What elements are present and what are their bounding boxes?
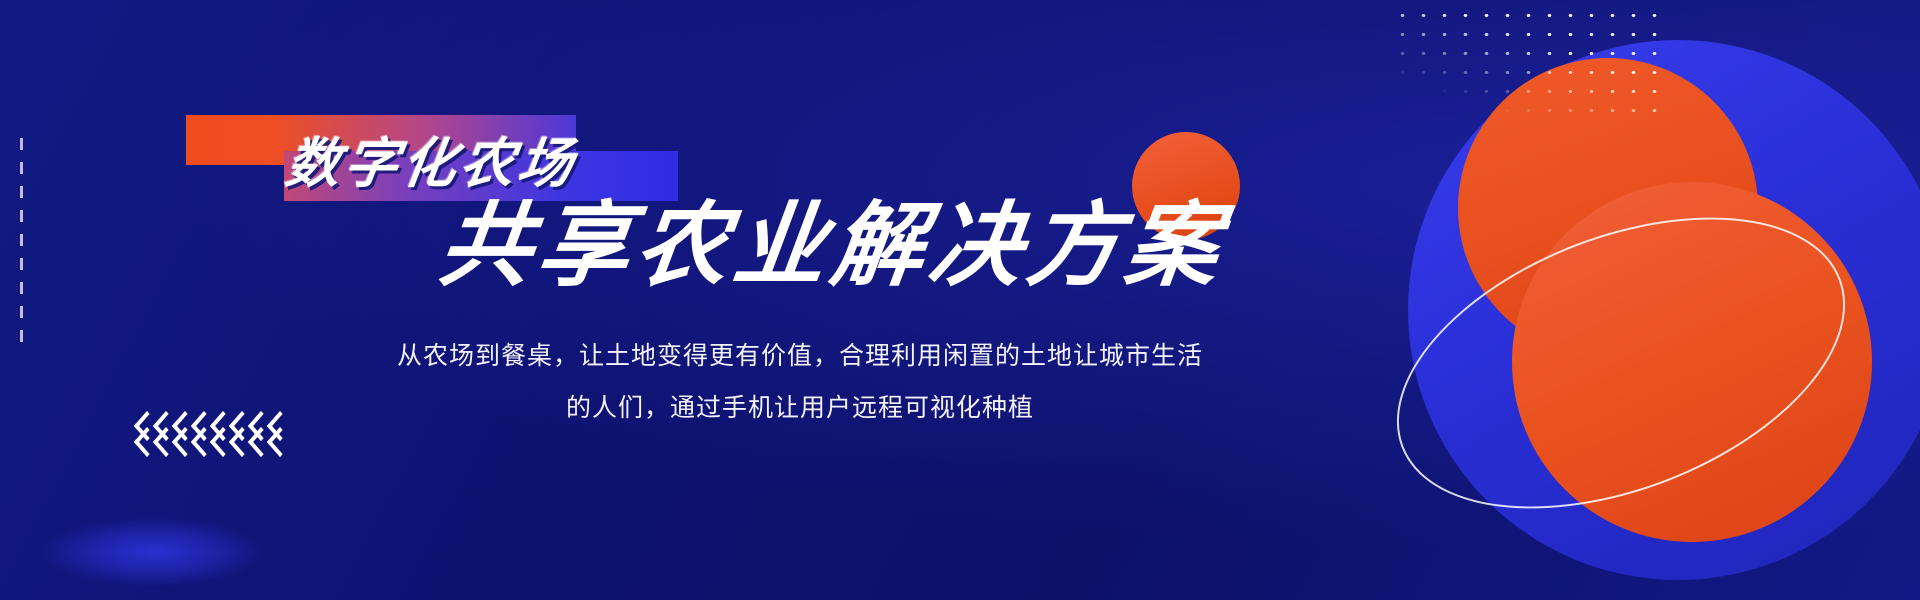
chevron-left-icon bbox=[171, 412, 188, 452]
hero-banner: 数字化农场 共享农业解决方案 从农场到餐桌，让土地变得更有价值，合理利用闲置的土… bbox=[0, 0, 1920, 600]
badge: 数字化农场 bbox=[186, 115, 586, 201]
badge-label: 数字化农场 bbox=[180, 115, 684, 201]
chevron-left-icon bbox=[266, 412, 283, 452]
chevron-left-icon bbox=[209, 412, 226, 452]
chevron-left-icon bbox=[133, 412, 150, 452]
subtitle-line-1: 从农场到餐桌，让土地变得更有价值，合理利用闲置的土地让城市生活 bbox=[300, 330, 1300, 382]
chevron-left-icon bbox=[228, 412, 245, 452]
dotted-vertical-line-decoration bbox=[20, 138, 23, 350]
chevron-arrows-decoration bbox=[133, 412, 283, 452]
page-title: 共享农业解决方案 bbox=[434, 198, 1230, 295]
subtitle: 从农场到餐桌，让土地变得更有价值，合理利用闲置的土地让城市生活 的人们，通过手机… bbox=[300, 330, 1300, 434]
chevron-left-icon bbox=[190, 412, 207, 452]
chevron-left-icon bbox=[152, 412, 169, 452]
dot-grid-decoration bbox=[1392, 6, 1672, 126]
subtitle-line-2: 的人们，通过手机让用户远程可视化种植 bbox=[300, 382, 1300, 434]
chevron-left-icon bbox=[247, 412, 264, 452]
